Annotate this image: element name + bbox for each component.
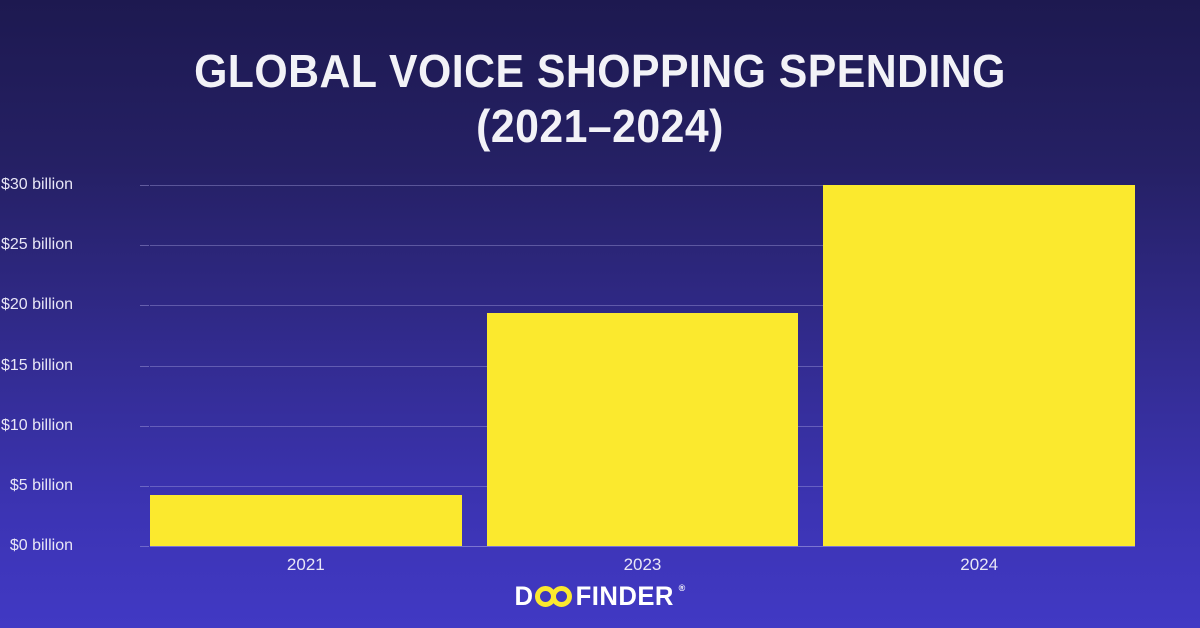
y-axis-tick-label: $0 billion bbox=[0, 538, 73, 554]
registered-trademark-icon: ® bbox=[679, 583, 686, 594]
y-axis-tick-mark bbox=[140, 245, 149, 246]
bar-chart-plot-area: $0 billion$5 billion$10 billion$15 billi… bbox=[150, 185, 1135, 546]
doofinder-infinity-oo-icon bbox=[535, 586, 572, 607]
y-axis-tick-mark bbox=[140, 305, 149, 306]
x-axis-tick-label: 2024 bbox=[823, 556, 1135, 574]
bar-2024[interactable] bbox=[823, 185, 1135, 546]
y-axis-tick-mark bbox=[140, 426, 149, 427]
title-line-1: GLOBAL VOICE SHOPPING SPENDING bbox=[42, 44, 1158, 99]
title-line-2: (2021–2024) bbox=[42, 99, 1158, 154]
y-axis-tick-label: $30 billion bbox=[0, 177, 73, 193]
y-axis-tick-label: $15 billion bbox=[0, 358, 73, 374]
y-axis-tick-label: $20 billion bbox=[0, 297, 73, 313]
infographic-canvas: GLOBAL VOICE SHOPPING SPENDING (2021–202… bbox=[0, 0, 1200, 628]
gridline bbox=[150, 546, 1135, 547]
logo-wordmark: D FINDER ® bbox=[514, 583, 686, 610]
y-axis-tick-mark bbox=[140, 546, 149, 547]
logo-prefix-text: D bbox=[515, 583, 534, 610]
logo-suffix-text: FINDER bbox=[576, 583, 674, 610]
x-axis-tick-label: 2023 bbox=[487, 556, 799, 574]
doofinder-logo: D FINDER ® bbox=[0, 583, 1200, 610]
y-axis-tick-mark bbox=[140, 366, 149, 367]
logo-o-second-icon bbox=[551, 586, 572, 607]
y-axis-tick-label: $10 billion bbox=[0, 418, 73, 434]
bar-2021[interactable] bbox=[150, 495, 462, 546]
x-axis-tick-label: 2021 bbox=[150, 556, 462, 574]
y-axis-tick-mark bbox=[140, 185, 149, 186]
y-axis-tick-label: $25 billion bbox=[0, 237, 73, 253]
y-axis-tick-mark bbox=[140, 486, 149, 487]
bar-2023[interactable] bbox=[487, 313, 799, 546]
page-title: GLOBAL VOICE SHOPPING SPENDING (2021–202… bbox=[0, 44, 1200, 154]
y-axis-tick-label: $5 billion bbox=[0, 478, 73, 494]
